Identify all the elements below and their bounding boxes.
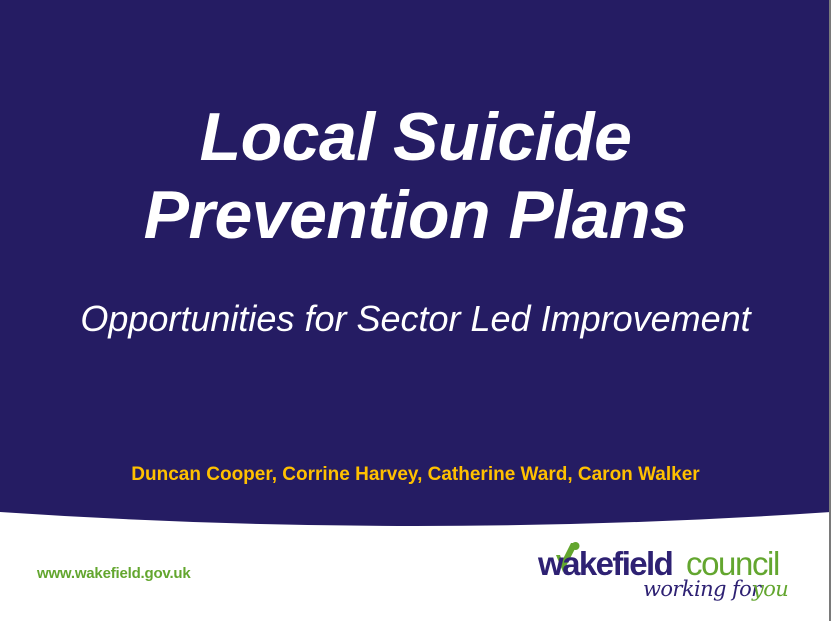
author-list: Duncan Cooper, Corrine Harvey, Catherine… [0,463,831,487]
footer-website-url[interactable]: www.wakefield.gov.uk [37,565,191,582]
wakefield-council-logo: wakefield council working for you wakefi… [536,541,804,603]
title-line-2: Prevention Plans [0,176,831,254]
title-line-1: Local Suicide [0,98,831,176]
navy-background-panel [0,0,831,540]
presentation-slide: Local Suicide Prevention Plans Opportuni… [0,0,831,621]
page-subtitle: Opportunities for Sector Led Improvement [0,297,831,341]
svg-text:working for: working for [643,577,763,601]
svg-text:you: you [751,577,788,601]
page-title: Local Suicide Prevention Plans [0,98,831,254]
